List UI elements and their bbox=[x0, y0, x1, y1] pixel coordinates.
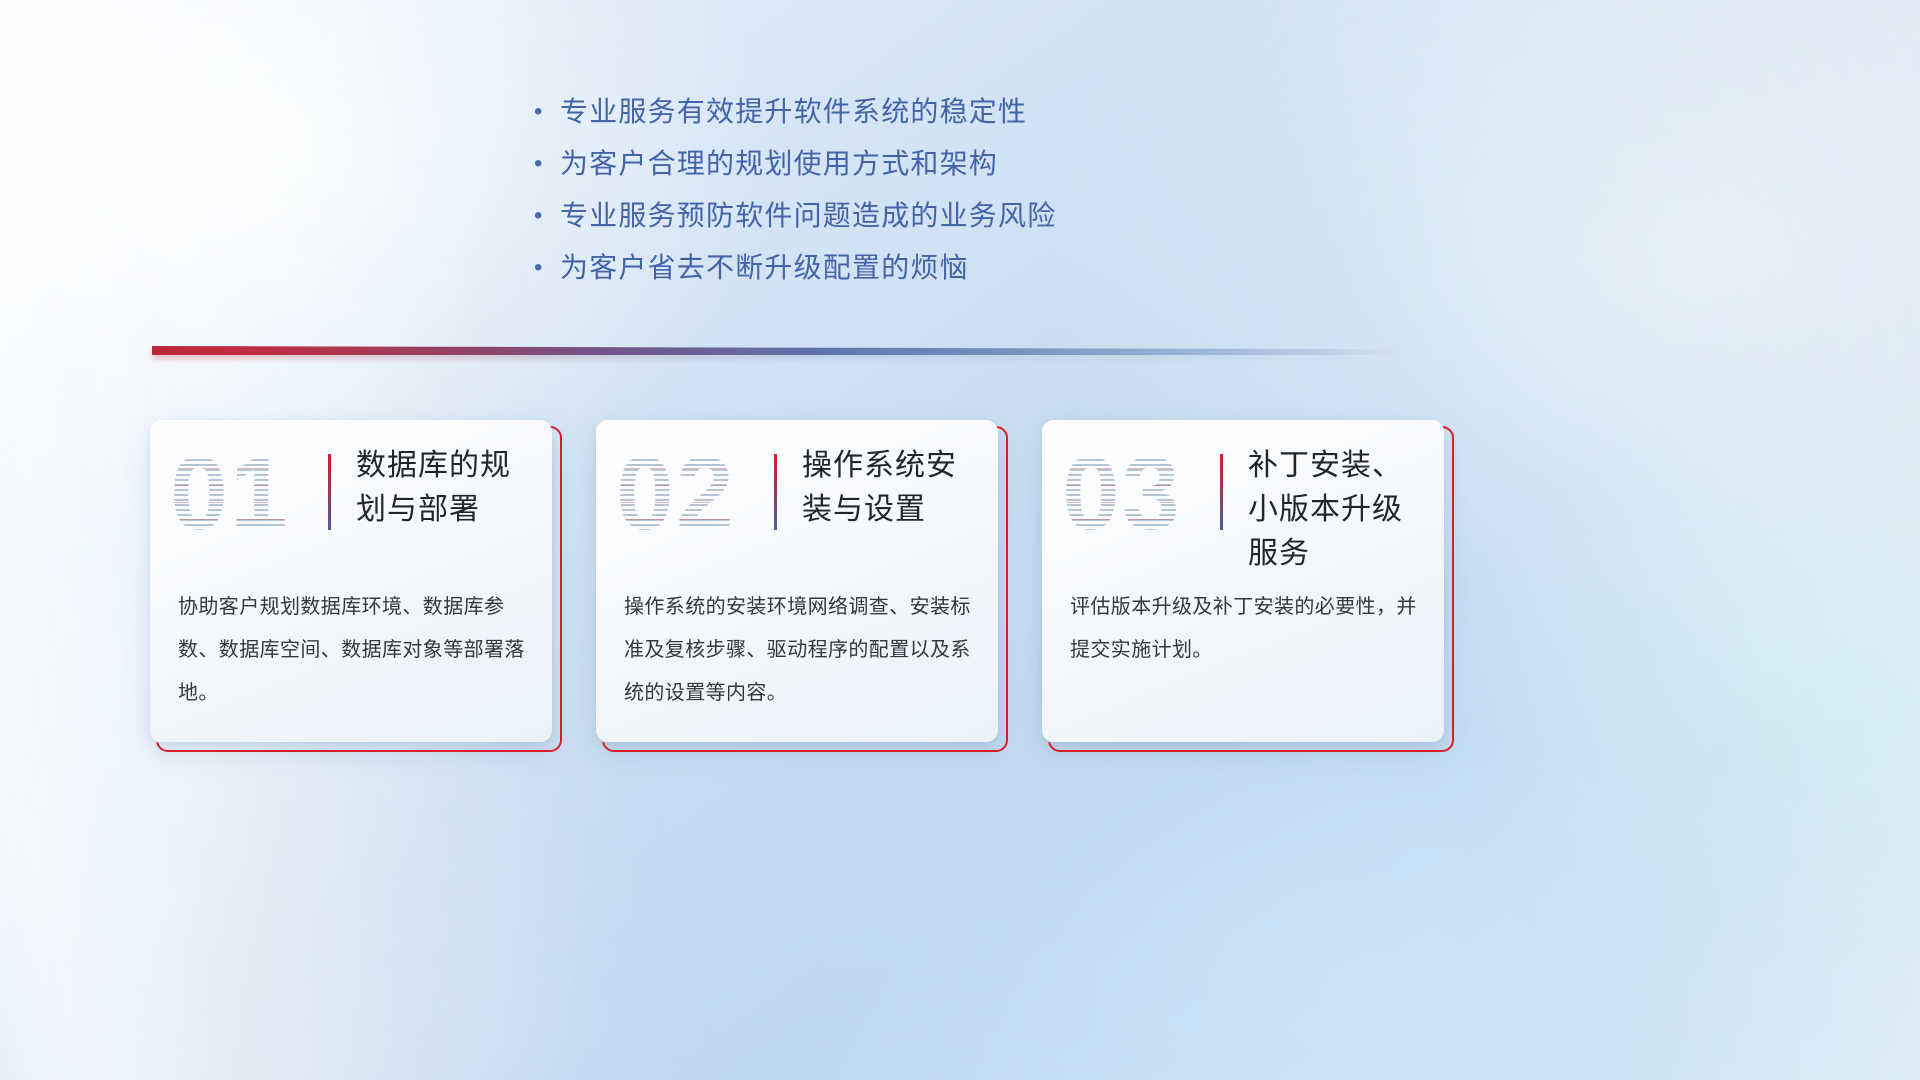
bullet-text: 为客户省去不断升级配置的烦恼 bbox=[560, 246, 969, 290]
list-item: • 为客户合理的规划使用方式和架构 bbox=[534, 142, 1056, 194]
slide-root: • 专业服务有效提升软件系统的稳定性 • 为客户合理的规划使用方式和架构 • 专… bbox=[0, 0, 1920, 1080]
card-title-rule bbox=[1220, 454, 1223, 530]
service-card-group: 01 01 数据库的规划与部署 协助客户规划数据库环境、数据库参数、数据库空间、… bbox=[150, 420, 1444, 742]
bullet-text: 专业服务预防软件问题造成的业务风险 bbox=[560, 194, 1056, 238]
list-item: • 为客户省去不断升级配置的烦恼 bbox=[534, 246, 1056, 298]
card-inner: 01 01 数据库的规划与部署 协助客户规划数据库环境、数据库参数、数据库空间、… bbox=[150, 420, 552, 742]
bullet-dot-icon: • bbox=[534, 142, 560, 186]
card-inner: 02 02 操作系统安装与设置 操作系统的安装环境网络调查、安装标准及复核步骤、… bbox=[596, 420, 998, 742]
card-header: 03 03 补丁安装、小版本升级服务 bbox=[1042, 420, 1444, 570]
divider-bar bbox=[152, 346, 1398, 355]
card-description: 评估版本升级及补丁安装的必要性，并提交实施计划。 bbox=[1070, 586, 1420, 672]
card-header: 02 02 操作系统安装与设置 bbox=[596, 420, 998, 570]
card-description: 操作系统的安装环境网络调查、安装标准及复核步骤、驱动程序的配置以及系统的设置等内… bbox=[624, 586, 974, 715]
bullet-text: 为客户合理的规划使用方式和架构 bbox=[560, 142, 998, 186]
card-inner: 03 03 补丁安装、小版本升级服务 评估版本升级及补丁安装的必要性，并提交实施… bbox=[1042, 420, 1444, 742]
card-number: 02 bbox=[616, 434, 766, 554]
service-card-03[interactable]: 03 03 补丁安装、小版本升级服务 评估版本升级及补丁安装的必要性，并提交实施… bbox=[1042, 420, 1444, 742]
card-title: 数据库的规划与部署 bbox=[356, 444, 536, 532]
card-header: 01 01 数据库的规划与部署 bbox=[150, 420, 552, 570]
card-description: 协助客户规划数据库环境、数据库参数、数据库空间、数据库对象等部署落地。 bbox=[178, 586, 528, 715]
card-title-rule bbox=[774, 454, 777, 530]
card-number: 01 bbox=[170, 434, 320, 554]
benefits-bullet-list: • 专业服务有效提升软件系统的稳定性 • 为客户合理的规划使用方式和架构 • 专… bbox=[534, 90, 1056, 298]
card-title-rule bbox=[328, 454, 331, 530]
section-divider bbox=[152, 346, 1398, 360]
bullet-dot-icon: • bbox=[534, 90, 560, 134]
list-item: • 专业服务预防软件问题造成的业务风险 bbox=[534, 194, 1056, 246]
service-card-01[interactable]: 01 01 数据库的规划与部署 协助客户规划数据库环境、数据库参数、数据库空间、… bbox=[150, 420, 552, 742]
card-title: 补丁安装、小版本升级服务 bbox=[1248, 444, 1428, 576]
bullet-dot-icon: • bbox=[534, 246, 560, 290]
service-card-02[interactable]: 02 02 操作系统安装与设置 操作系统的安装环境网络调查、安装标准及复核步骤、… bbox=[596, 420, 998, 742]
bullet-text: 专业服务有效提升软件系统的稳定性 bbox=[560, 90, 1027, 134]
bullet-dot-icon: • bbox=[534, 194, 560, 238]
card-number: 03 bbox=[1062, 434, 1212, 554]
card-title: 操作系统安装与设置 bbox=[802, 444, 982, 532]
list-item: • 专业服务有效提升软件系统的稳定性 bbox=[534, 90, 1056, 142]
